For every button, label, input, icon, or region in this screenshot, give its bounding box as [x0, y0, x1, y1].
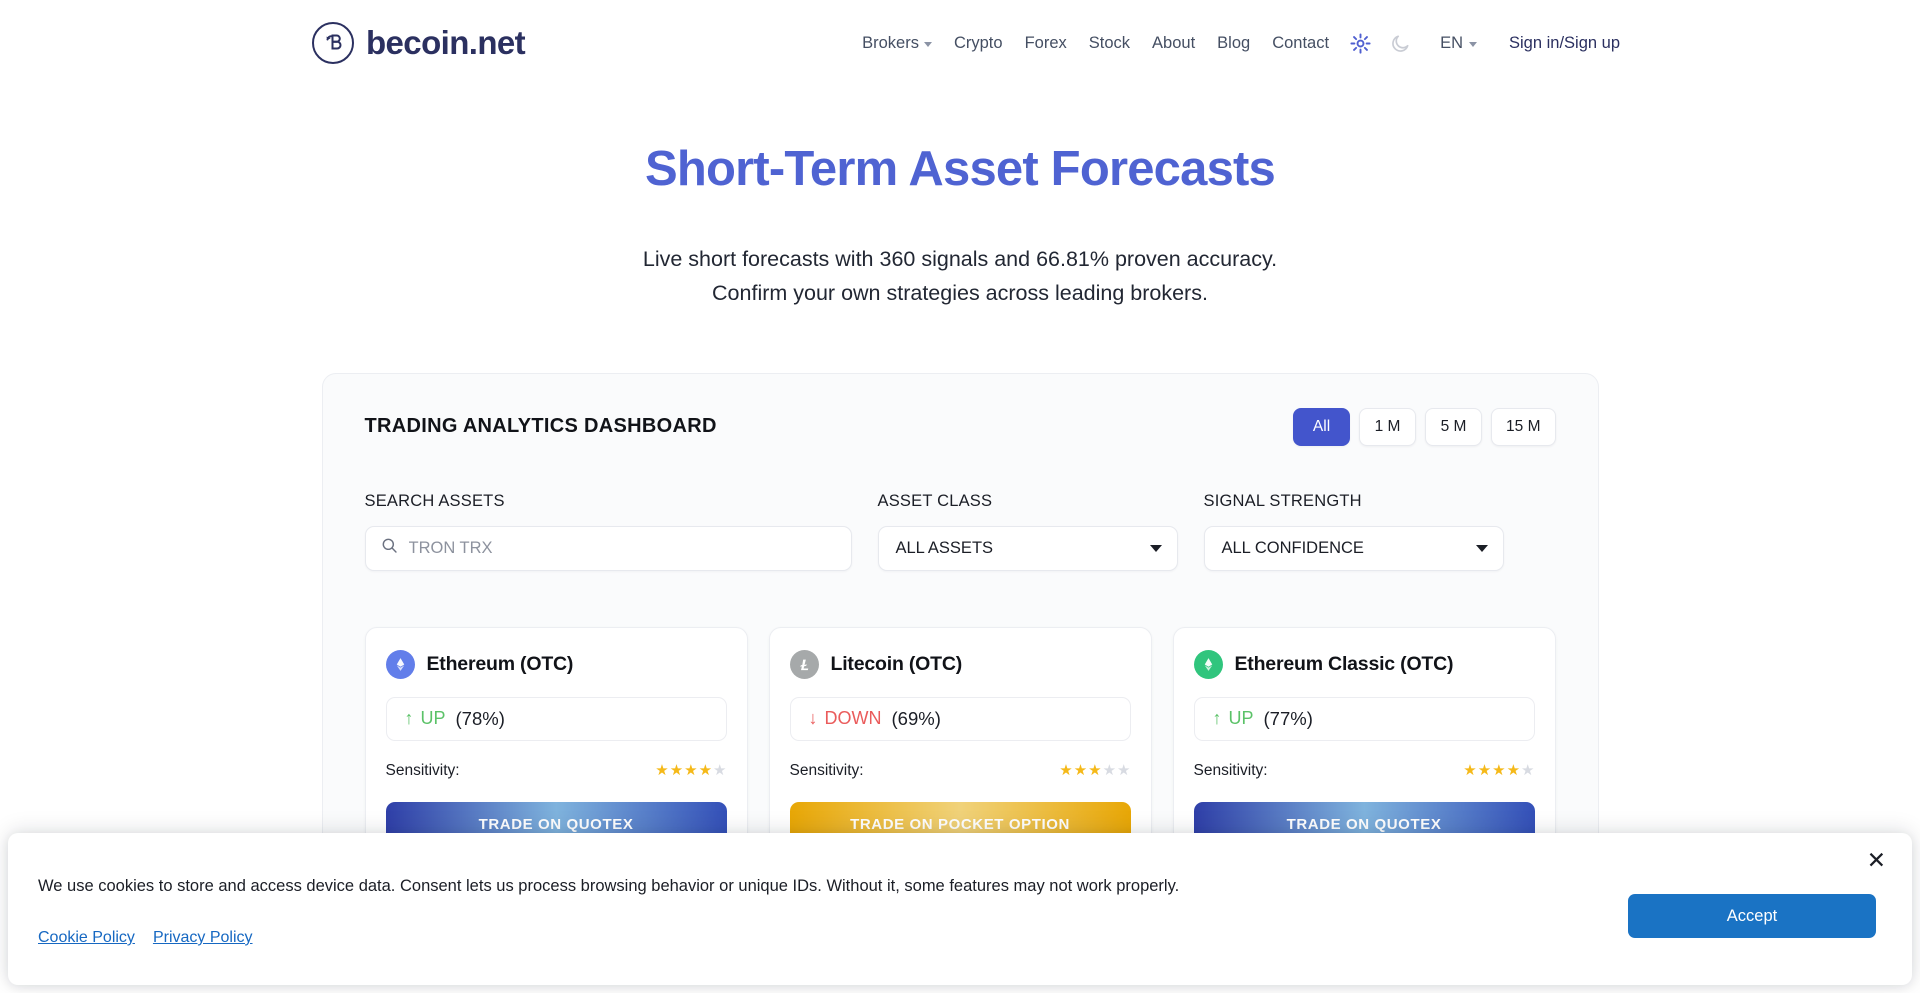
privacy-policy-link[interactable]: Privacy Policy — [153, 929, 253, 947]
signal-box: ↓ DOWN (69%) — [790, 697, 1131, 741]
sensitivity-rating: ★ ★ ★ ★ ★ — [1463, 763, 1534, 778]
hero-subtitle: Live short forecasts with 360 signals an… — [0, 243, 1920, 310]
star-icon: ★ — [1117, 763, 1130, 778]
signal-strength-label: SIGNAL STRENGTH — [1204, 492, 1504, 511]
arrow-down-icon: ↓ — [809, 708, 818, 729]
signal-confidence: (77%) — [1264, 708, 1313, 730]
asset-card-header: Ethereum (OTC) — [386, 650, 727, 679]
litecoin-icon — [790, 650, 819, 679]
dashboard-title: TRADING ANALYTICS DASHBOARD — [365, 415, 717, 438]
star-icon: ★ — [1521, 763, 1534, 778]
brand-logo[interactable]: becoin.net — [312, 22, 525, 64]
nav-item-brokers-label: Brokers — [862, 34, 919, 53]
main-navigation: Brokers Crypto Forex Stock About Blog Co… — [851, 26, 1920, 60]
star-icon: ★ — [1463, 763, 1476, 778]
star-icon: ★ — [1507, 763, 1520, 778]
star-icon: ★ — [713, 763, 726, 778]
asset-class-label: ASSET CLASS — [878, 492, 1178, 511]
sign-in-sign-up-link[interactable]: Sign in/Sign up — [1509, 34, 1620, 53]
nav-item-brokers[interactable]: Brokers — [851, 28, 943, 59]
asset-name: Litecoin (OTC) — [831, 653, 963, 676]
cookie-policy-link[interactable]: Cookie Policy — [38, 929, 135, 947]
signal-box: ↑ UP (78%) — [386, 697, 727, 741]
arrow-up-icon: ↑ — [1213, 708, 1222, 729]
becoin-circle-logo-icon — [312, 22, 354, 64]
cookie-banner-links: Cookie Policy Privacy Policy — [38, 929, 1588, 947]
chevron-down-icon — [924, 42, 932, 47]
star-icon: ★ — [1492, 763, 1505, 778]
cookie-banner-message: We use cookies to store and access devic… — [38, 875, 1588, 899]
signal-strength-select[interactable]: ALL CONFIDENCE — [1204, 526, 1504, 571]
filters-row: SEARCH ASSETS ASSET CLASS ALL ASSETS — [365, 492, 1556, 571]
moon-icon[interactable] — [1383, 26, 1417, 60]
signal-direction: ↓ DOWN — [809, 708, 882, 729]
ethereum-classic-icon — [1194, 650, 1223, 679]
asset-card-header: Ethereum Classic (OTC) — [1194, 650, 1535, 679]
signal-strength-selected-value: ALL CONFIDENCE — [1222, 539, 1364, 558]
sensitivity-rating: ★ ★ ★ ★ ★ — [655, 763, 726, 778]
hero-subtitle-line-2: Confirm your own strategies across leadi… — [712, 281, 1208, 305]
timeframe-filter-group: All 1 M 5 M 15 M — [1293, 408, 1555, 446]
nav-item-blog[interactable]: Blog — [1206, 28, 1261, 59]
sensitivity-row: Sensitivity: ★ ★ ★ ★ ★ — [1194, 762, 1535, 780]
sensitivity-row: Sensitivity: ★ ★ ★ ★ ★ — [386, 762, 727, 780]
timeframe-button-1m[interactable]: 1 M — [1359, 408, 1416, 446]
signal-confidence: (78%) — [456, 708, 505, 730]
signal-direction: ↑ UP — [405, 708, 446, 729]
signal-strength-field: SIGNAL STRENGTH ALL CONFIDENCE — [1204, 492, 1504, 571]
search-assets-label: SEARCH ASSETS — [365, 492, 852, 511]
search-assets-field: SEARCH ASSETS — [365, 492, 852, 571]
accept-cookies-button[interactable]: Accept — [1628, 894, 1876, 938]
sensitivity-rating: ★ ★ ★ ★ ★ — [1059, 763, 1130, 778]
close-icon[interactable]: ✕ — [1867, 849, 1886, 872]
signal-box: ↑ UP (77%) — [1194, 697, 1535, 741]
chevron-down-icon — [1469, 42, 1477, 47]
timeframe-button-5m[interactable]: 5 M — [1425, 408, 1482, 446]
star-icon: ★ — [1059, 763, 1072, 778]
signal-direction-label: UP — [1229, 708, 1254, 729]
star-icon: ★ — [684, 763, 697, 778]
search-input[interactable] — [409, 539, 836, 558]
sensitivity-label: Sensitivity: — [790, 762, 864, 780]
asset-card-header: Litecoin (OTC) — [790, 650, 1131, 679]
sensitivity-label: Sensitivity: — [386, 762, 460, 780]
cookie-consent-banner: ✕ We use cookies to store and access dev… — [8, 833, 1912, 985]
asset-class-selected-value: ALL ASSETS — [896, 539, 994, 558]
brand-name: becoin.net — [366, 24, 525, 62]
star-icon: ★ — [670, 763, 683, 778]
nav-item-about[interactable]: About — [1141, 28, 1206, 59]
star-icon: ★ — [655, 763, 668, 778]
sensitivity-row: Sensitivity: ★ ★ ★ ★ ★ — [790, 762, 1131, 780]
signal-direction: ↑ UP — [1213, 708, 1254, 729]
cookie-banner-content: We use cookies to store and access devic… — [38, 875, 1628, 947]
gear-icon[interactable] — [1343, 26, 1377, 60]
page-title: Short-Term Asset Forecasts — [0, 141, 1920, 197]
language-selector-label: EN — [1440, 34, 1463, 53]
arrow-up-icon: ↑ — [405, 708, 414, 729]
chevron-down-icon — [1476, 545, 1488, 552]
asset-name: Ethereum (OTC) — [427, 653, 574, 676]
signal-confidence: (69%) — [892, 708, 941, 730]
signal-direction-label: UP — [421, 708, 446, 729]
nav-item-contact[interactable]: Contact — [1261, 28, 1340, 59]
hero-subtitle-line-1: Live short forecasts with 360 signals an… — [643, 247, 1277, 271]
asset-class-field: ASSET CLASS ALL ASSETS — [878, 492, 1178, 571]
star-icon: ★ — [1088, 763, 1101, 778]
search-icon — [381, 537, 398, 559]
nav-item-stock[interactable]: Stock — [1078, 28, 1141, 59]
timeframe-button-15m[interactable]: 15 M — [1491, 408, 1555, 446]
language-selector[interactable]: EN — [1430, 28, 1487, 59]
site-header: becoin.net Brokers Crypto Forex Stock Ab… — [0, 0, 1920, 86]
sensitivity-label: Sensitivity: — [1194, 762, 1268, 780]
asset-class-select[interactable]: ALL ASSETS — [878, 526, 1178, 571]
timeframe-button-all[interactable]: All — [1293, 408, 1350, 446]
star-icon: ★ — [1074, 763, 1087, 778]
signal-direction-label: DOWN — [825, 708, 882, 729]
star-icon: ★ — [699, 763, 712, 778]
asset-name: Ethereum Classic (OTC) — [1235, 653, 1454, 676]
dashboard-header: TRADING ANALYTICS DASHBOARD All 1 M 5 M … — [365, 408, 1556, 446]
star-icon: ★ — [1103, 763, 1116, 778]
nav-item-forex[interactable]: Forex — [1014, 28, 1078, 59]
search-input-shell[interactable] — [365, 526, 852, 571]
chevron-down-icon — [1150, 545, 1162, 552]
ethereum-icon — [386, 650, 415, 679]
hero-section: Short-Term Asset Forecasts Live short fo… — [0, 86, 1920, 310]
star-icon: ★ — [1478, 763, 1491, 778]
nav-item-crypto[interactable]: Crypto — [943, 28, 1014, 59]
